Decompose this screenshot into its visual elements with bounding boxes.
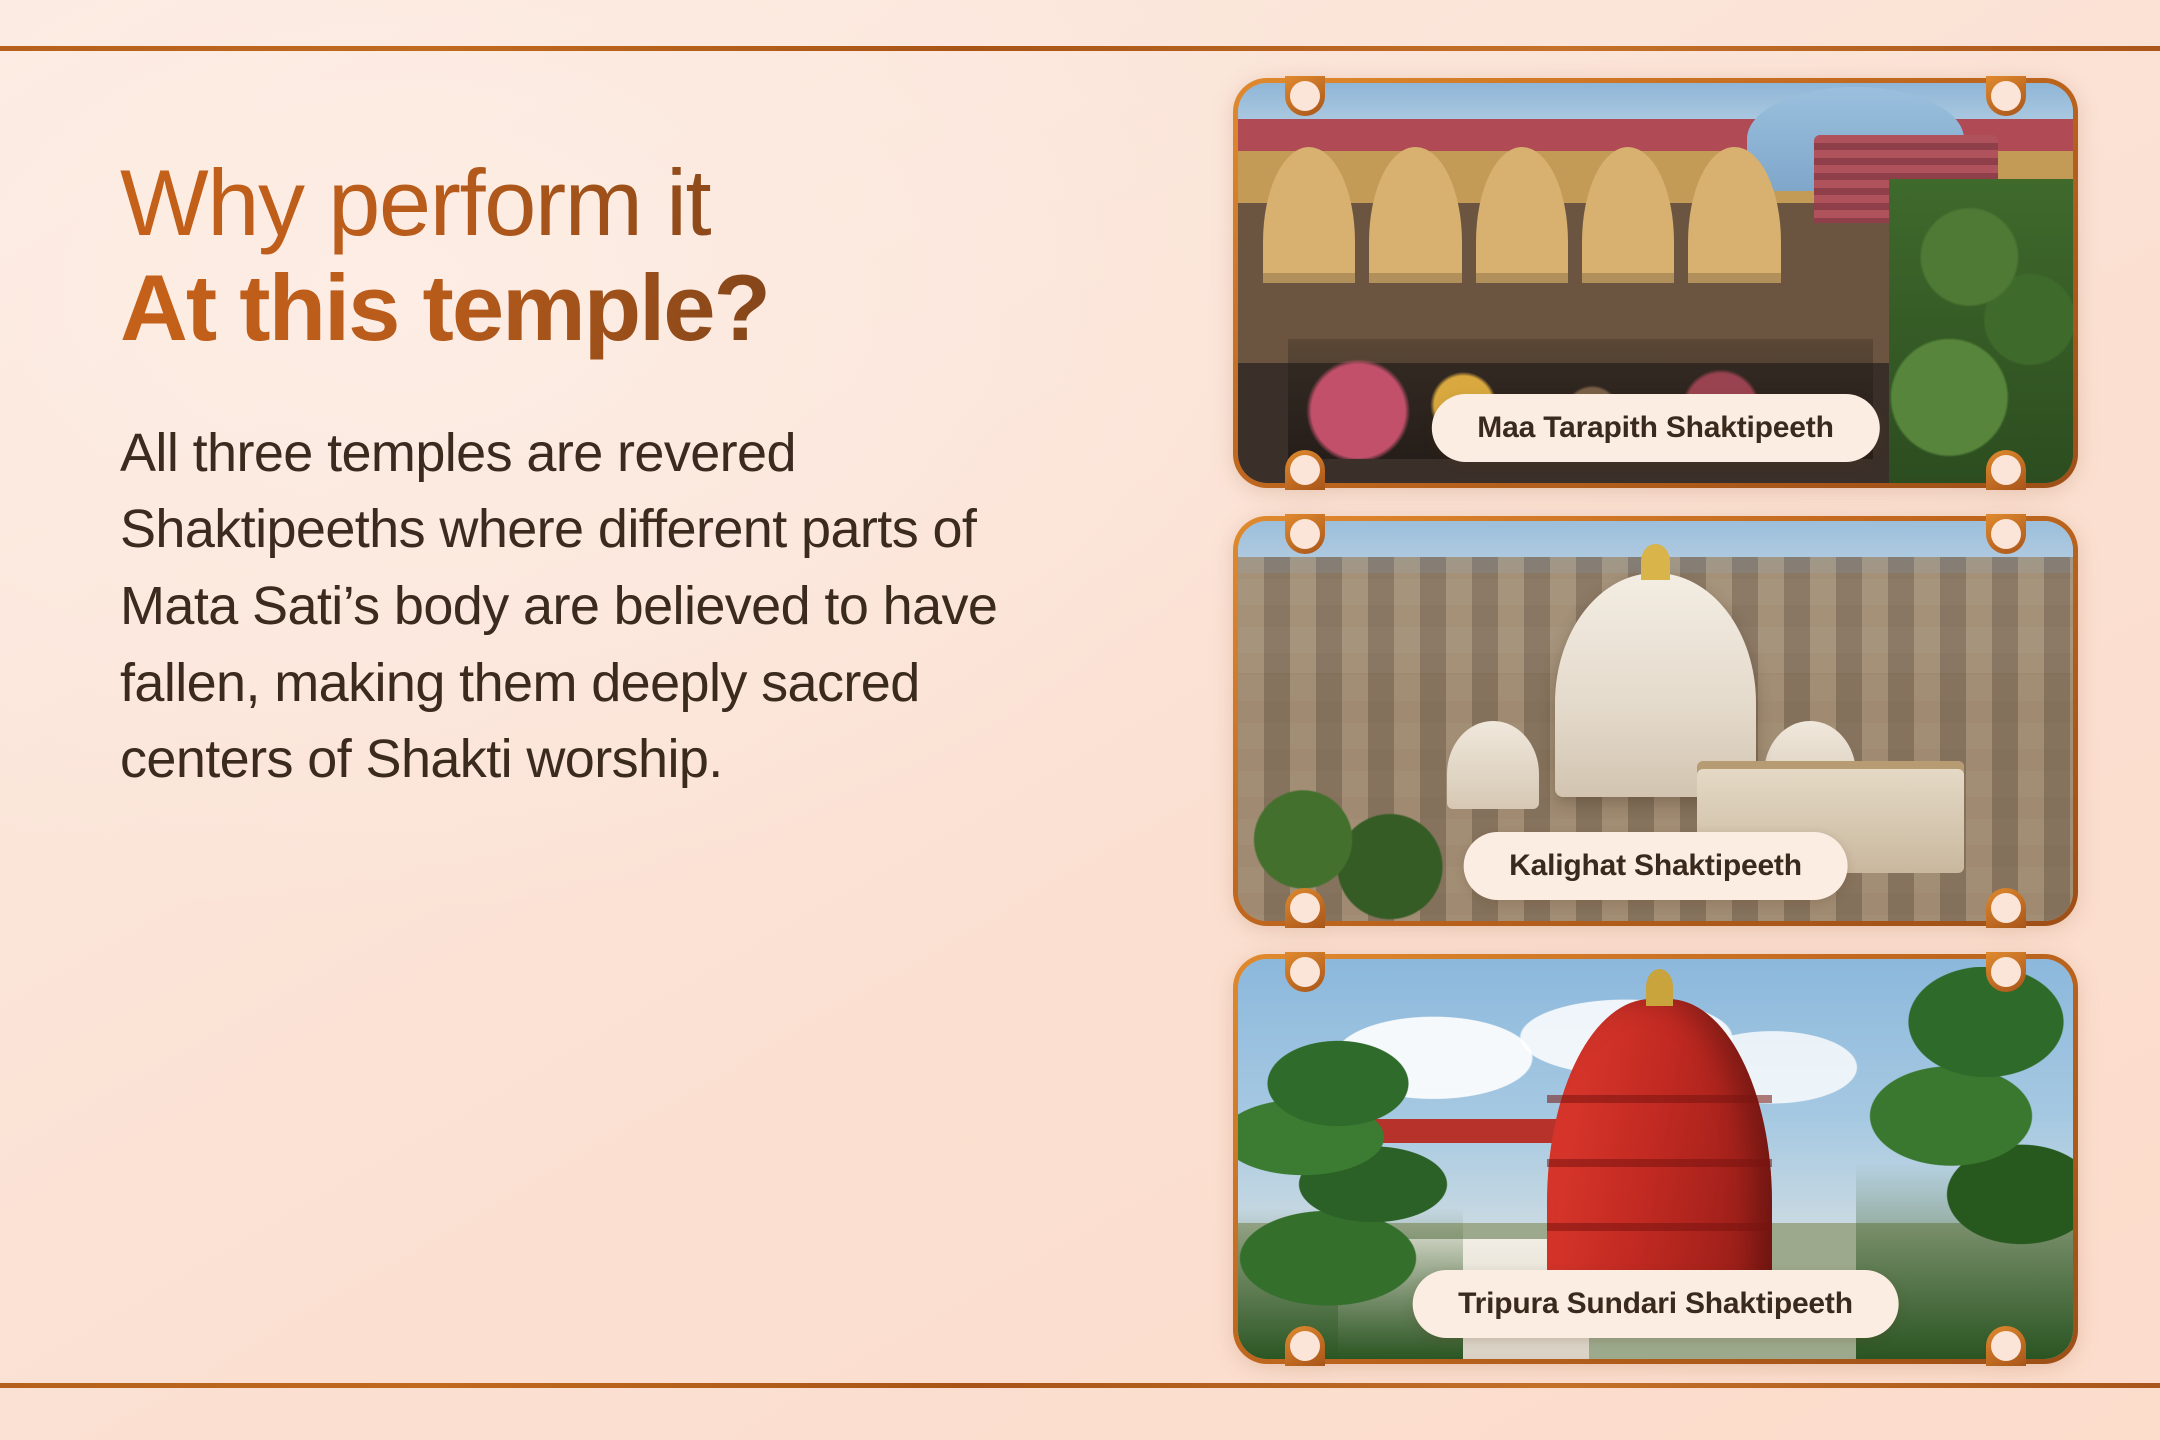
- temple-image-card-list: Maa Tarapith Shaktipeeth Kalighat Shakti…: [1233, 78, 2078, 1364]
- stupa-band-shape: [1547, 1095, 1772, 1103]
- arcade-shape: [1263, 147, 1781, 283]
- stupa-band-shape: [1547, 1159, 1772, 1167]
- page-title-line-1: Why perform it: [120, 150, 1120, 255]
- content-column: Why perform it At this temple? All three…: [120, 150, 1120, 798]
- temple-card-caption: Tripura Sundari Shaktipeeth: [1412, 1270, 1899, 1338]
- temple-card[interactable]: Maa Tarapith Shaktipeeth: [1233, 78, 2078, 488]
- bottom-divider-rule: [0, 1383, 2160, 1388]
- page-title-line-2: At this temple?: [120, 255, 1120, 360]
- page-title: Why perform it At this temple?: [120, 150, 1120, 361]
- foliage-shape: [1889, 179, 2073, 483]
- temple-card-caption: Kalighat Shaktipeeth: [1463, 832, 1848, 900]
- top-divider-rule: [0, 46, 2160, 51]
- temple-card[interactable]: Tripura Sundari Shaktipeeth: [1233, 954, 2078, 1364]
- body-paragraph: All three temples are revered Shaktipeet…: [120, 415, 1080, 798]
- temple-card[interactable]: Kalighat Shaktipeeth: [1233, 516, 2078, 926]
- stupa-band-shape: [1547, 1223, 1772, 1231]
- foliage-shape: [1238, 785, 1455, 921]
- temple-card-caption: Maa Tarapith Shaktipeeth: [1431, 394, 1879, 462]
